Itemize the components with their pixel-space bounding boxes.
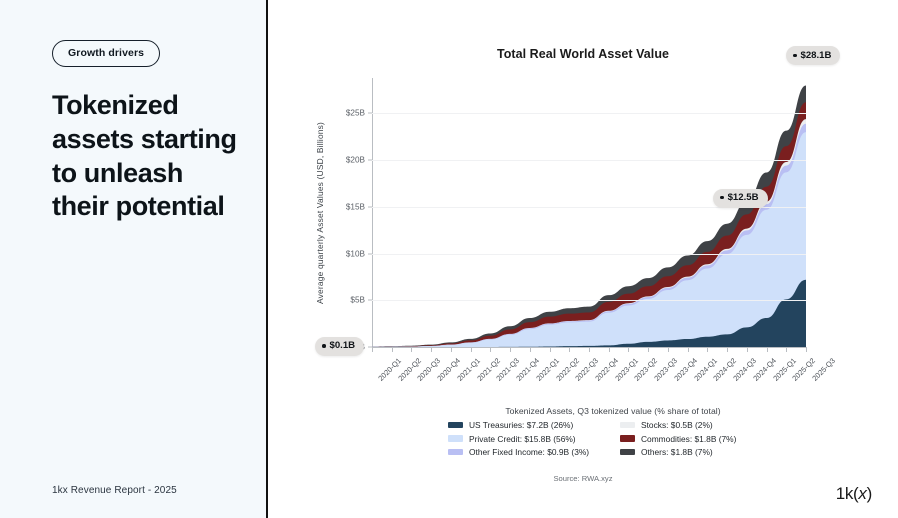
legend-item[interactable]: Others: $1.8B (7%) <box>620 447 778 457</box>
x-tick-mark <box>550 348 551 352</box>
legend-label: Others: $1.8B (7%) <box>641 447 713 457</box>
x-tick-mark <box>490 348 491 352</box>
callout-dot-icon <box>322 344 326 348</box>
page-title: Tokenized assets starting to unleash the… <box>52 89 240 224</box>
legend-items: US Treasuries: $7.2B (26%)Stocks: $0.5B … <box>448 420 778 457</box>
legend-label: Other Fixed Income: $0.9B (3%) <box>469 447 589 457</box>
x-tick-mark <box>747 348 748 352</box>
plot-area: $0B$5B$10B$15B$20B$25B <box>372 78 806 347</box>
x-tick-mark <box>431 348 432 352</box>
stacked-area-series <box>372 78 806 347</box>
x-tick-mark <box>451 348 452 352</box>
x-tick-mark <box>668 348 669 352</box>
x-tick-mark <box>707 348 708 352</box>
callout-mid[interactable]: $12.5B <box>713 189 767 208</box>
x-tick-mark <box>688 348 689 352</box>
callout-end-label: $28.1B <box>801 50 832 61</box>
callout-start-label: $0.1B <box>330 340 356 351</box>
y-tick-mark <box>368 113 372 114</box>
callout-dot-icon <box>793 54 797 58</box>
legend-label: Commodities: $1.8B (7%) <box>641 434 736 444</box>
x-tick-mark <box>806 348 807 352</box>
x-tick-mark <box>589 348 590 352</box>
x-axis-ticks: 2020-Q12020-Q22020-Q32020-Q42021-Q12021-… <box>372 348 807 408</box>
slide-root: Growth drivers Tokenized assets starting… <box>0 0 898 518</box>
x-tick-mark <box>530 348 531 352</box>
gridline <box>372 113 806 114</box>
legend-item[interactable]: US Treasuries: $7.2B (26%) <box>448 420 606 430</box>
gridline <box>372 160 806 161</box>
legend-swatch <box>620 449 635 456</box>
x-tick-mark <box>392 348 393 352</box>
legend-title: Tokenized Assets, Q3 tokenized value (% … <box>448 406 778 416</box>
gridline <box>372 254 806 255</box>
legend-swatch <box>448 435 463 442</box>
x-tick-mark <box>786 348 787 352</box>
legend-swatch <box>620 422 635 429</box>
x-tick-mark <box>471 348 472 352</box>
chart-legend: Tokenized Assets, Q3 tokenized value (% … <box>448 406 778 457</box>
callout-mid-label: $12.5B <box>728 192 759 203</box>
logo-suffix: ) <box>867 484 872 503</box>
legend-label: US Treasuries: $7.2B (26%) <box>469 420 573 430</box>
x-tick-mark <box>609 348 610 352</box>
left-panel: Growth drivers Tokenized assets starting… <box>0 0 268 518</box>
legend-item[interactable]: Commodities: $1.8B (7%) <box>620 434 778 444</box>
x-tick-mark <box>510 348 511 352</box>
legend-swatch <box>620 435 635 442</box>
x-tick-mark <box>648 348 649 352</box>
x-tick-mark <box>411 348 412 352</box>
legend-swatch <box>448 422 463 429</box>
callout-dot-icon <box>720 196 724 200</box>
1kx-logo: 1k(x) <box>836 484 872 504</box>
logo-prefix: 1k( <box>836 484 859 503</box>
x-tick-mark <box>727 348 728 352</box>
x-tick-mark <box>767 348 768 352</box>
legend-label: Private Credit: $15.8B (56%) <box>469 434 576 444</box>
growth-drivers-badge: Growth drivers <box>52 40 160 67</box>
callout-end[interactable]: $28.1B <box>786 46 840 65</box>
y-tick-mark <box>368 206 372 207</box>
logo-variable: x <box>858 484 866 503</box>
y-axis-label: Average quarterly Asset Values (USD, Bil… <box>313 78 327 348</box>
y-tick-mark <box>368 300 372 301</box>
x-tick-mark <box>569 348 570 352</box>
legend-swatch <box>448 449 463 456</box>
legend-label: Stocks: $0.5B (2%) <box>641 420 713 430</box>
legend-item[interactable]: Other Fixed Income: $0.9B (3%) <box>448 447 606 457</box>
report-footer: 1kx Revenue Report - 2025 <box>52 485 177 496</box>
x-tick-mark <box>628 348 629 352</box>
x-tick-mark <box>372 348 373 352</box>
y-tick-mark <box>368 253 372 254</box>
callout-start[interactable]: $0.1B <box>315 337 364 356</box>
source-note: Source: RWA.xyz <box>268 474 898 483</box>
y-tick-mark <box>368 160 372 161</box>
right-panel: Total Real World Asset Value Average qua… <box>268 0 898 518</box>
gridline <box>372 300 806 301</box>
legend-item[interactable]: Stocks: $0.5B (2%) <box>620 420 778 430</box>
legend-item[interactable]: Private Credit: $15.8B (56%) <box>448 434 606 444</box>
